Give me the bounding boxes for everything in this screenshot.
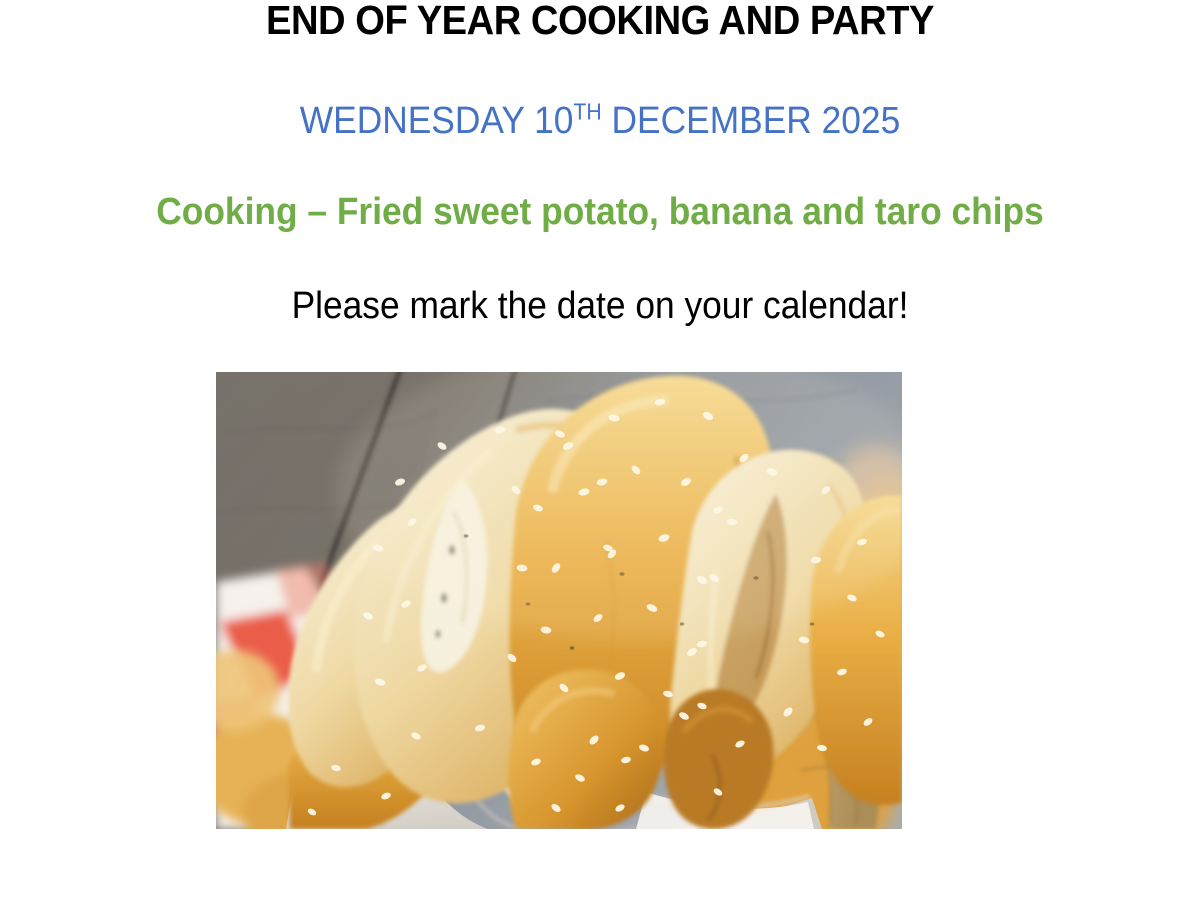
food-photo-artwork — [216, 372, 902, 829]
event-date-suffix: DECEMBER 2025 — [602, 100, 901, 142]
event-date-prefix: WEDNESDAY 10 — [300, 100, 574, 142]
call-to-action: Please mark the date on your calendar! — [42, 283, 1158, 329]
menu-line: Cooking – Fried sweet potato, banana and… — [42, 189, 1158, 235]
food-photo — [216, 372, 902, 829]
flyer-page: END OF YEAR COOKING AND PARTY WEDNESDAY … — [0, 0, 1200, 915]
event-date: WEDNESDAY 10TH DECEMBER 2025 — [42, 98, 1158, 144]
page-title: END OF YEAR COOKING AND PARTY — [42, 0, 1158, 45]
event-date-ordinal: TH — [573, 98, 601, 124]
